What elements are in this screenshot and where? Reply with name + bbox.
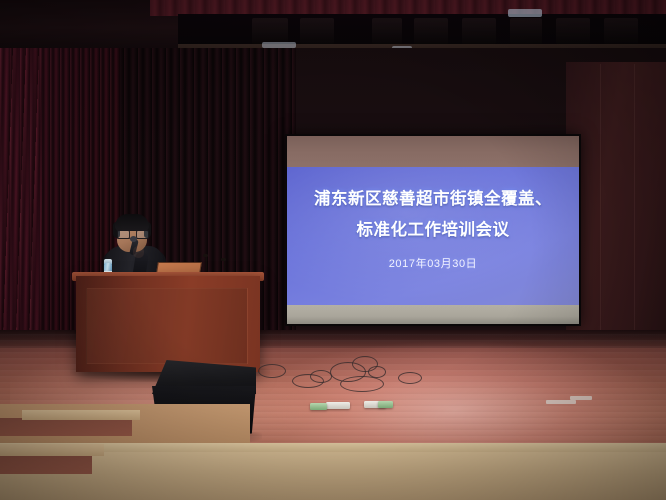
- wall-seam: [600, 64, 601, 330]
- slide-title-line-1: 浦东新区慈善超市街镇全覆盖、: [287, 184, 579, 215]
- slide-title: 浦东新区慈善超市街镇全覆盖、 标准化工作培训会议: [287, 184, 579, 246]
- stage-step-riser: [0, 418, 132, 436]
- stage-light-fixture: [372, 18, 402, 44]
- podium-front-panel: [86, 288, 248, 364]
- stage-front-panel: [0, 452, 666, 500]
- presenter-hair: [115, 214, 149, 231]
- power-strip: [310, 403, 327, 410]
- stage-light-fixture: [510, 18, 542, 44]
- stage-light-fixture: [556, 18, 590, 44]
- stage-light-fixture: [604, 18, 638, 44]
- floor-cable: [340, 376, 384, 392]
- stage-light-fixture: [300, 18, 334, 44]
- floor-tape: [570, 396, 592, 400]
- gooseneck-microphone-head: [203, 254, 208, 257]
- power-strip: [326, 402, 350, 409]
- presentation-slide: 浦东新区慈善超市街镇全覆盖、 标准化工作培训会议 2017年03月30日: [287, 167, 579, 305]
- floor-cable: [292, 374, 324, 388]
- presenter-hand: [133, 246, 144, 258]
- presenter-glasses-left-lens: [117, 230, 130, 239]
- presenter-glasses-right-lens: [136, 230, 149, 239]
- gooseneck-microphone-head: [221, 258, 226, 261]
- power-strip: [378, 401, 393, 408]
- stage-step-riser: [0, 454, 92, 474]
- projection-screen-top-band: [287, 136, 579, 167]
- stage-light-fixture: [252, 18, 288, 44]
- microphone-head: [130, 236, 137, 242]
- floor-cable: [258, 364, 286, 378]
- slide-title-line-2: 标准化工作培训会议: [287, 215, 579, 246]
- floor-tape: [546, 400, 576, 404]
- right-wall-panel: [566, 62, 666, 330]
- stage-light-fixture: [414, 18, 448, 44]
- stage-step: [0, 444, 104, 456]
- auditorium-stage-photo: 浦东新区慈善超市街镇全覆盖、 标准化工作培训会议 2017年03月30日: [0, 0, 666, 500]
- projection-screen-bottom-band: [287, 305, 579, 324]
- stage-light-fixture: [462, 18, 496, 44]
- light-reflection: [508, 9, 542, 17]
- slide-date: 2017年03月30日: [287, 255, 579, 271]
- stage-step: [22, 410, 140, 420]
- wall-seam: [634, 64, 635, 330]
- floor-cable: [398, 372, 422, 384]
